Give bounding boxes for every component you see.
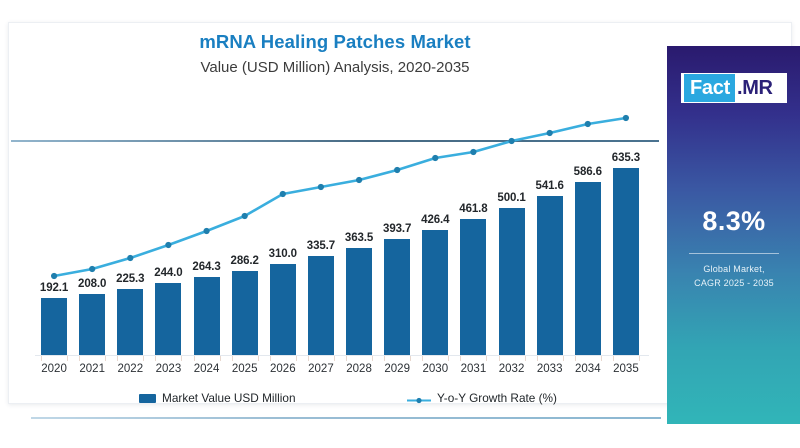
bar-column: 461.8 xyxy=(454,149,492,355)
bar-column: 586.6 xyxy=(569,149,607,355)
footer-divider xyxy=(31,417,661,419)
plot-region: 192.1208.0225.3244.0264.3286.2310.0335.7… xyxy=(35,149,645,355)
logo-mr-text: .MR xyxy=(735,77,773,100)
x-axis-tick: 2022 xyxy=(118,363,144,375)
bar[interactable] xyxy=(460,219,486,355)
bar-value-label: 264.3 xyxy=(192,261,220,273)
bar-column: 192.1 xyxy=(35,149,73,355)
bar-column: 426.4 xyxy=(416,149,454,355)
cagr-caption-line1: Global Market, xyxy=(667,262,800,276)
header-divider xyxy=(11,140,659,142)
bar[interactable] xyxy=(537,196,563,355)
line-data-point[interactable] xyxy=(585,121,591,127)
x-axis-tick: 2031 xyxy=(461,363,487,375)
bar-value-label: 635.3 xyxy=(612,152,640,164)
page-title: mRNA Healing Patches Market xyxy=(9,31,661,53)
bar[interactable] xyxy=(613,168,639,355)
x-axis-tick: 2020 xyxy=(41,363,67,375)
bar-column: 363.5 xyxy=(340,149,378,355)
bar[interactable] xyxy=(308,256,334,355)
legend-item-growth-rate[interactable]: Y-o-Y Growth Rate (%) xyxy=(407,391,557,405)
bar[interactable] xyxy=(346,248,372,355)
bar-column: 225.3 xyxy=(111,149,149,355)
x-axis-tick: 2032 xyxy=(499,363,525,375)
x-axis-tick: 2021 xyxy=(79,363,105,375)
chart-screenshot: mRNA Healing Patches Market Value (USD M… xyxy=(0,0,800,448)
bar[interactable] xyxy=(194,277,220,355)
x-axis-tick: 2030 xyxy=(423,363,449,375)
bar-value-label: 586.6 xyxy=(574,166,602,178)
bar-value-label: 461.8 xyxy=(459,203,487,215)
x-axis-tick: 2026 xyxy=(270,363,296,375)
factmr-logo: Fact .MR xyxy=(681,73,787,103)
bar[interactable] xyxy=(79,294,105,355)
bar-column: 264.3 xyxy=(188,149,226,355)
bar-column: 635.3 xyxy=(607,149,645,355)
bar-value-label: 244.0 xyxy=(154,267,182,279)
bar-value-label: 192.1 xyxy=(40,282,68,294)
bar-value-label: 541.6 xyxy=(536,180,564,192)
legend-item-market-value[interactable]: Market Value USD Million xyxy=(139,391,296,405)
x-axis-tick: 2025 xyxy=(232,363,258,375)
legend-bar-label: Market Value USD Million xyxy=(162,391,296,405)
cagr-value: 8.3% xyxy=(667,206,800,237)
bar-column: 393.7 xyxy=(378,149,416,355)
legend-bar-swatch-icon xyxy=(139,394,156,403)
bar[interactable] xyxy=(232,271,258,355)
bar-column: 244.0 xyxy=(149,149,187,355)
brand-panel: Fact .MR 8.3% Global Market, CAGR 2025 -… xyxy=(667,46,800,424)
chart-subtitle: Value (USD Million) Analysis, 2020-2035 xyxy=(9,59,661,77)
line-data-point[interactable] xyxy=(623,115,629,121)
bar[interactable] xyxy=(575,182,601,355)
x-axis-labels: 2020202120222023202420252026202720282029… xyxy=(35,363,645,381)
x-axis-tick: 2027 xyxy=(308,363,334,375)
bar-value-label: 286.2 xyxy=(231,255,259,267)
cagr-caption: Global Market, CAGR 2025 - 2035 xyxy=(667,262,800,290)
line-data-point[interactable] xyxy=(547,130,553,136)
bar-value-label: 335.7 xyxy=(307,240,335,252)
chart-legend: Market Value USD Million Y-o-Y Growth Ra… xyxy=(9,389,661,411)
bar-column: 208.0 xyxy=(73,149,111,355)
bar-column: 286.2 xyxy=(226,149,264,355)
line-data-point[interactable] xyxy=(509,138,515,144)
bar-value-label: 426.4 xyxy=(421,214,449,226)
logo-fact-text: Fact xyxy=(684,74,735,102)
title-block: mRNA Healing Patches Market Value (USD M… xyxy=(9,31,661,77)
brand-divider xyxy=(689,253,779,254)
bar-value-label: 500.1 xyxy=(497,192,525,204)
bar-column: 541.6 xyxy=(531,149,569,355)
legend-line-swatch-icon xyxy=(407,394,431,403)
bar-value-label: 208.0 xyxy=(78,278,106,290)
bar-column: 500.1 xyxy=(493,149,531,355)
bar-value-label: 310.0 xyxy=(269,248,297,260)
x-axis-tick: 2035 xyxy=(613,363,639,375)
bar[interactable] xyxy=(270,264,296,355)
x-axis-tick: 2023 xyxy=(156,363,182,375)
x-axis-tick: 2034 xyxy=(575,363,601,375)
x-axis-tick: 2024 xyxy=(194,363,220,375)
legend-line-label: Y-o-Y Growth Rate (%) xyxy=(437,391,557,405)
bar[interactable] xyxy=(41,298,67,355)
axis-ticks xyxy=(35,356,649,361)
x-axis-tick: 2033 xyxy=(537,363,563,375)
chart-area: mRNA Healing Patches Market Value (USD M… xyxy=(9,23,661,403)
bar[interactable] xyxy=(155,283,181,355)
bar[interactable] xyxy=(499,208,525,355)
chart-card: mRNA Healing Patches Market Value (USD M… xyxy=(8,22,792,404)
bar[interactable] xyxy=(384,239,410,355)
bar-column: 335.7 xyxy=(302,149,340,355)
bar-value-label: 225.3 xyxy=(116,273,144,285)
bar-value-label: 363.5 xyxy=(345,232,373,244)
bar-column: 310.0 xyxy=(264,149,302,355)
cagr-caption-line2: CAGR 2025 - 2035 xyxy=(667,276,800,290)
x-axis-tick: 2028 xyxy=(346,363,372,375)
bar[interactable] xyxy=(422,230,448,355)
bar[interactable] xyxy=(117,289,143,355)
bar-value-label: 393.7 xyxy=(383,223,411,235)
x-axis-tick: 2029 xyxy=(384,363,410,375)
